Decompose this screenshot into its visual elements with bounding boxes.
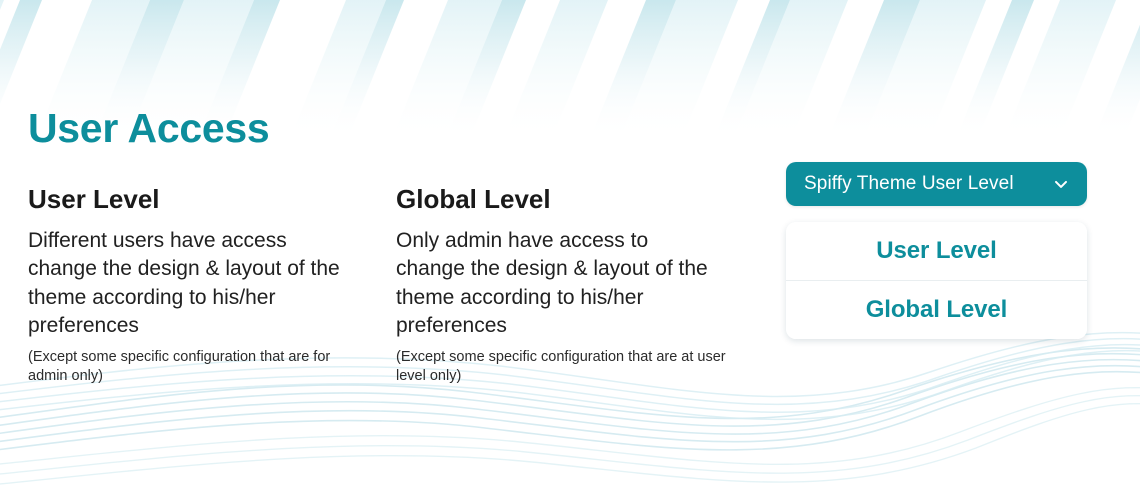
dropdown-option-global-level[interactable]: Global Level: [786, 280, 1087, 339]
dropdown-selected-label: Spiffy Theme User Level: [804, 173, 1051, 195]
user-level-dropdown: Spiffy Theme User Level User Level Globa…: [786, 162, 1087, 339]
column-body-text: Only admin have access to change the des…: [396, 227, 716, 340]
slide-content: User Access User Level Different users h…: [0, 0, 1140, 500]
column-user-level: User Level Different users have access c…: [28, 185, 373, 386]
dropdown-option-user-level[interactable]: User Level: [786, 222, 1087, 280]
page-title: User Access: [28, 108, 269, 149]
column-body-text: Different users have access change the d…: [28, 227, 348, 340]
column-heading: User Level: [28, 185, 373, 215]
column-note-text: (Except some specific configuration that…: [28, 348, 358, 386]
column-global-level: Global Level Only admin have access to c…: [396, 185, 741, 386]
slide-root: User Access User Level Different users h…: [0, 0, 1140, 500]
chevron-down-icon: [1051, 174, 1071, 194]
dropdown-menu: User Level Global Level: [786, 222, 1087, 339]
dropdown-toggle[interactable]: Spiffy Theme User Level: [786, 162, 1087, 206]
column-note-text: (Except some specific configuration that…: [396, 348, 726, 386]
column-heading: Global Level: [396, 185, 741, 215]
